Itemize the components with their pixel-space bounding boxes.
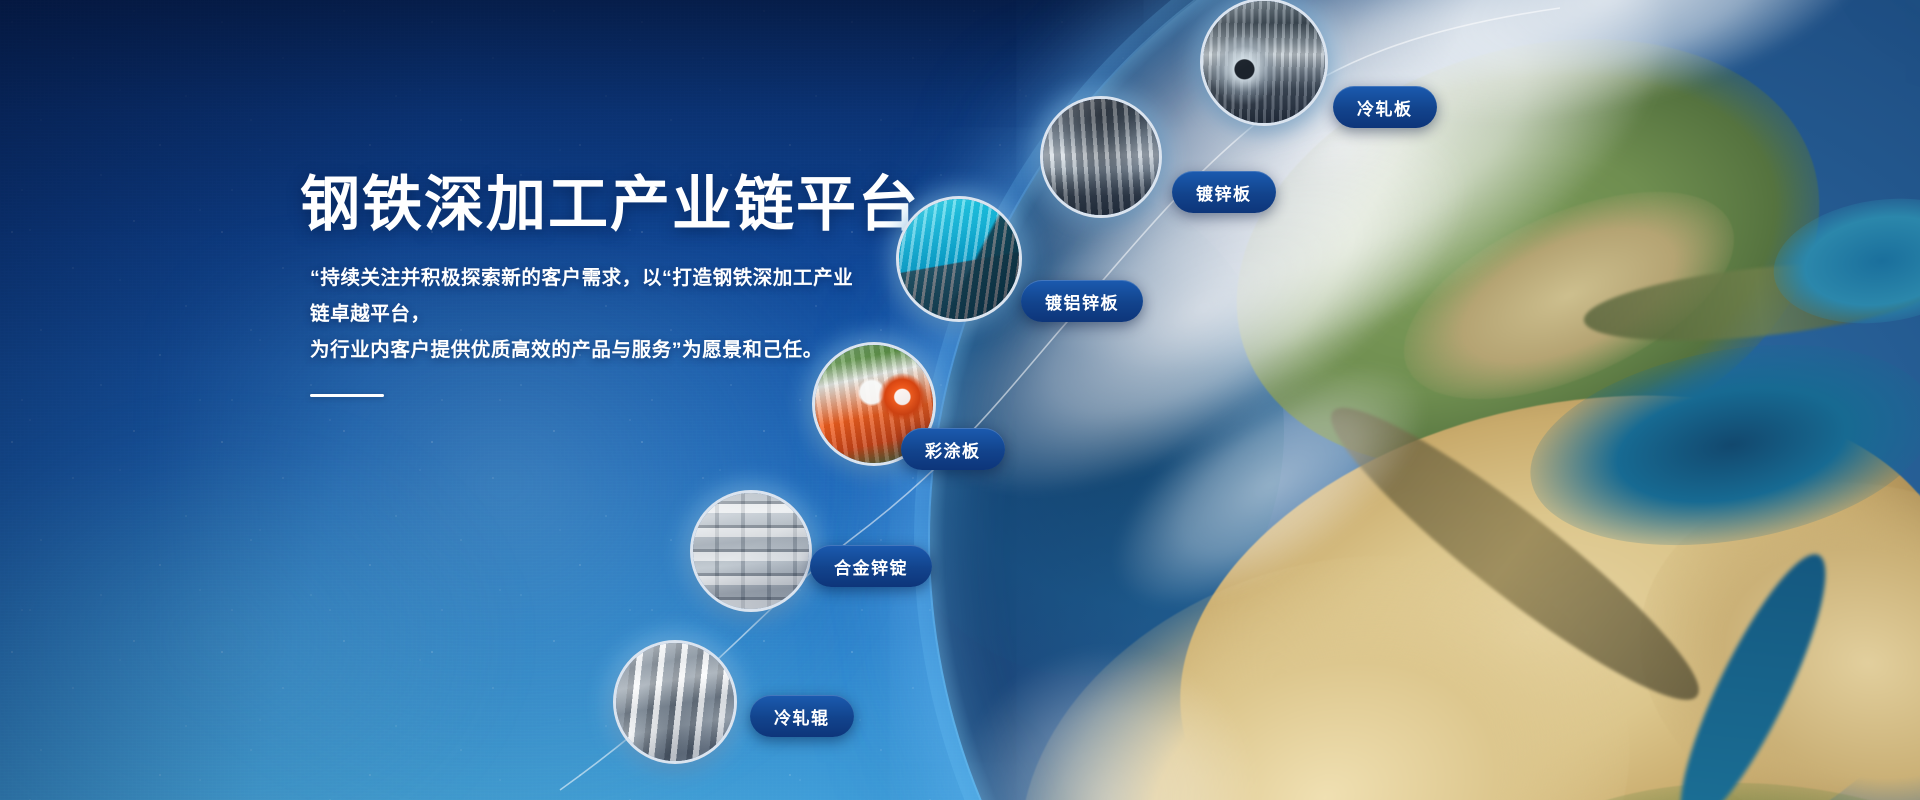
image-blue-coated-sheets: [899, 199, 1019, 319]
image-steel-coils-row: [1203, 1, 1325, 123]
product-label-cold-rolled-sheet[interactable]: 冷轧板: [1333, 86, 1437, 128]
product-label-color-coated-sheet[interactable]: 彩涂板: [901, 428, 1005, 470]
image-coil-warehouse: [1043, 99, 1159, 215]
title-underline-rule: [310, 394, 384, 397]
product-label-galvanized-sheet[interactable]: 镀锌板: [1172, 171, 1276, 213]
image-stacked-zinc-ingots: [693, 493, 809, 609]
product-thumbnail-galvalume-sheet[interactable]: [896, 196, 1022, 322]
hero-subtitle-line-1: “持续关注并积极探索新的客户需求，以“打造钢铁深加工产业链卓越平台，: [310, 267, 853, 325]
hero-subtitle: “持续关注并积极探索新的客户需求，以“打造钢铁深加工产业链卓越平台， 为行业内客…: [310, 260, 870, 368]
product-thumbnail-galvanized-sheet[interactable]: [1040, 96, 1162, 218]
product-thumbnail-cold-rolling-roll[interactable]: [613, 640, 737, 764]
page-title: 钢铁深加工产业链平台: [300, 172, 940, 238]
product-thumbnail-zinc-alloy-ingot[interactable]: [690, 490, 812, 612]
hero-banner: 钢铁深加工产业链平台 “持续关注并积极探索新的客户需求，以“打造钢铁深加工产业链…: [0, 0, 1920, 800]
product-thumbnail-cold-rolled-sheet[interactable]: [1200, 0, 1328, 126]
product-label-galvalume-sheet[interactable]: 镀铝锌板: [1021, 280, 1143, 322]
hero-subtitle-line-2: 为行业内客户提供优质高效的产品与服务”为愿景和己任。: [310, 339, 823, 361]
product-label-zinc-alloy-ingot[interactable]: 合金锌锭: [810, 545, 932, 587]
product-label-cold-rolling-roll[interactable]: 冷轧辊: [750, 695, 854, 737]
image-polished-steel-rolls: [616, 643, 734, 761]
